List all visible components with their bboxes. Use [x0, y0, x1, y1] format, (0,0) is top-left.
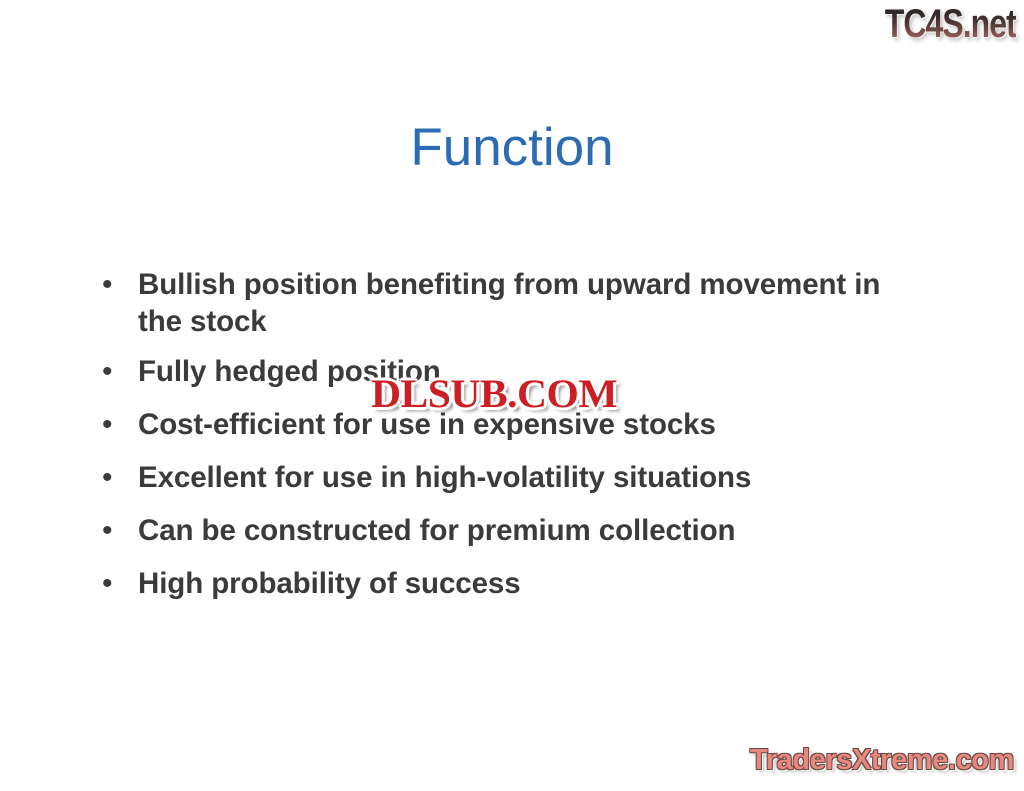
list-item-text: Can be constructed for premium collectio… — [138, 512, 928, 549]
bullet-point-icon: • — [96, 353, 138, 390]
list-item: • High probability of success — [96, 565, 946, 602]
bullet-point-icon: • — [96, 459, 138, 496]
tradersxtreme-watermark: TradersXtreme.com — [750, 744, 1014, 777]
list-item-text: High probability of success — [138, 565, 928, 602]
list-item-text: Bullish position benefiting from upward … — [138, 266, 928, 340]
list-item: • Bullish position benefiting from upwar… — [96, 266, 946, 340]
bullet-point-icon: • — [96, 565, 138, 602]
slide-title: Function — [0, 117, 1024, 179]
presentation-slide: TC4S.net Function • Bullish position ben… — [0, 0, 1024, 791]
list-item-text: Excellent for use in high-volatility sit… — [138, 459, 928, 496]
list-item: • Can be constructed for premium collect… — [96, 512, 946, 549]
list-item: • Excellent for use in high-volatility s… — [96, 459, 946, 496]
bullet-point-icon: • — [96, 406, 138, 443]
tc4s-site-logo: TC4S.net — [885, 2, 1016, 46]
bullet-point-icon: • — [96, 266, 138, 303]
bullet-list: • Bullish position benefiting from upwar… — [96, 266, 946, 618]
bullet-point-icon: • — [96, 512, 138, 549]
dlsub-watermark: DLSUB.COM — [371, 370, 617, 417]
